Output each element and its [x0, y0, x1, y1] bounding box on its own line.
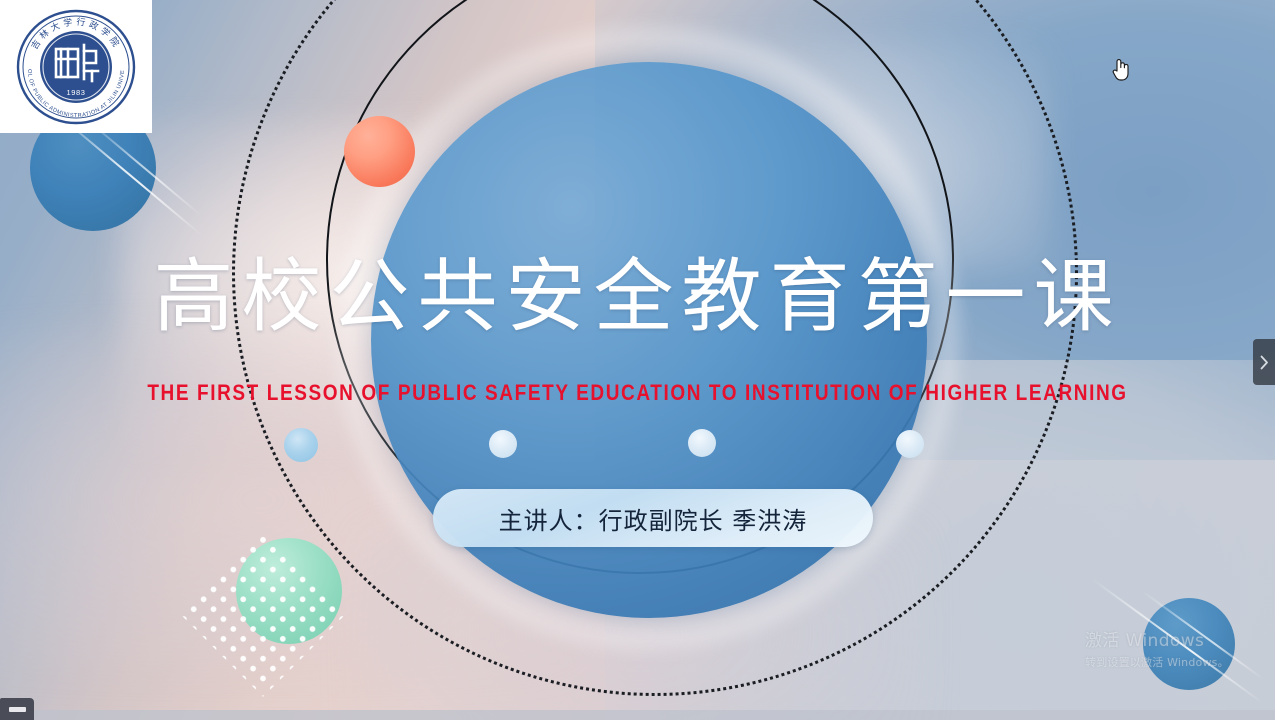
decor-circle-orange	[344, 116, 415, 187]
decor-dot-pale-3	[896, 430, 924, 458]
svg-text:1983: 1983	[66, 88, 85, 97]
bottom-edge-strip	[0, 710, 1275, 720]
slide-subtitle-english: THE FIRST LESSON OF PUBLIC SAFETY EDUCAT…	[0, 381, 1275, 407]
speaker-banner: 主讲人：行政副院长 季洪涛	[433, 489, 873, 547]
decor-circle-lightblue-left	[284, 428, 318, 462]
chevron-right-icon	[1260, 355, 1269, 370]
taskbar-stub-button[interactable]	[0, 698, 34, 720]
university-logo: 1983 吉林大学行政学院 SCHOOL OF PUBLIC ADMINISTR…	[0, 0, 152, 133]
speaker-name-text: 主讲人：行政副院长 季洪涛	[499, 501, 808, 536]
taskbar-stub-glyph	[9, 707, 26, 712]
decor-circle-blue-bottom-right	[1143, 598, 1235, 690]
decor-dot-pale-2	[688, 429, 716, 457]
slide-title-chinese: 高校公共安全教育第一课	[0, 254, 1275, 340]
decor-dot-pale-1	[489, 430, 517, 458]
next-slide-button[interactable]	[1253, 339, 1275, 385]
presentation-slide: 1983 吉林大学行政学院 SCHOOL OF PUBLIC ADMINISTR…	[0, 0, 1275, 720]
